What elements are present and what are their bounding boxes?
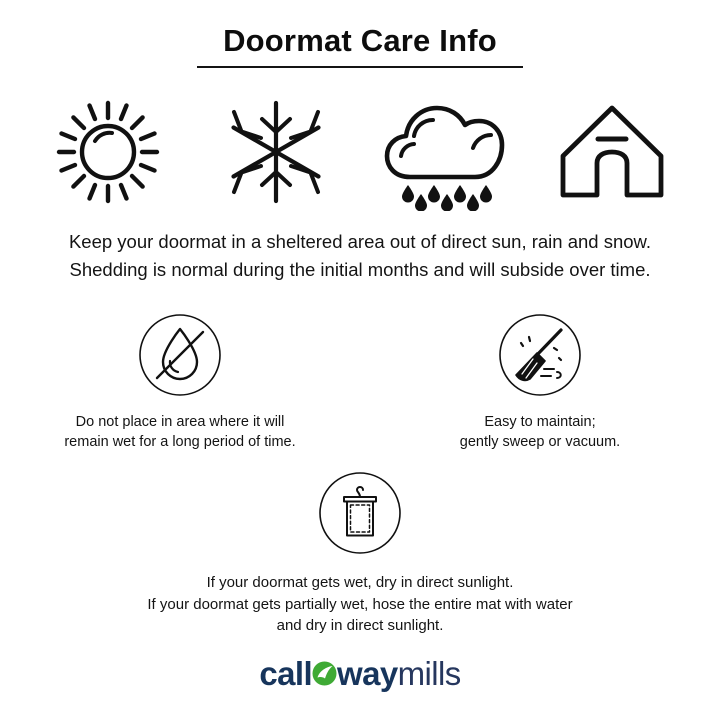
green-leaf-o-icon bbox=[312, 658, 337, 683]
care-tip-no-water: Do not place in area where it will remai… bbox=[0, 312, 360, 452]
drying-tip-line-1: If your doormat gets wet, dry in direct … bbox=[147, 572, 572, 594]
care-tips-row: Do not place in area where it will remai… bbox=[0, 312, 720, 452]
care-tip-no-water-caption: Do not place in area where it will remai… bbox=[64, 412, 295, 452]
main-copy-line-2: Shedding is normal during the initial mo… bbox=[0, 256, 720, 284]
page-title: Doormat Care Info bbox=[0, 22, 720, 60]
brand-logo-mills: mills bbox=[398, 657, 461, 691]
care-tip-no-water-line-2: remain wet for a long period of time. bbox=[64, 432, 295, 452]
drying-tip-line-2: If your doormat gets partially wet, hose… bbox=[147, 594, 572, 616]
care-tip-sweep: Easy to maintain; gently sweep or vacuum… bbox=[360, 312, 720, 452]
house-icon bbox=[547, 92, 677, 212]
brand-logo-calloway-a: call bbox=[259, 657, 312, 691]
snowflake-icon bbox=[211, 92, 341, 212]
care-tip-sweep-caption: Easy to maintain; gently sweep or vacuum… bbox=[460, 412, 620, 452]
broom-sweep-icon bbox=[497, 312, 583, 398]
care-tip-sweep-line-2: gently sweep or vacuum. bbox=[460, 432, 620, 452]
main-copy: Keep your doormat in a sheltered area ou… bbox=[0, 228, 720, 284]
care-tip-sweep-line-1: Easy to maintain; bbox=[460, 412, 620, 432]
main-copy-line-1: Keep your doormat in a sheltered area ou… bbox=[0, 228, 720, 256]
weather-icon-row bbox=[0, 92, 720, 212]
brand-logo-wordmark: call way mills bbox=[259, 657, 460, 691]
sun-icon bbox=[43, 92, 173, 212]
care-tip-no-water-line-1: Do not place in area where it will bbox=[64, 412, 295, 432]
care-info-card: Doormat Care Info bbox=[0, 0, 720, 720]
title-block: Doormat Care Info bbox=[0, 22, 720, 68]
title-underline-rule bbox=[197, 66, 523, 68]
hang-to-dry-icon bbox=[317, 470, 403, 556]
rain-cloud-icon bbox=[379, 92, 509, 212]
drying-tip: If your doormat gets wet, dry in direct … bbox=[0, 470, 720, 637]
brand-logo-calloway-b: way bbox=[337, 657, 398, 691]
brand-logo: call way mills bbox=[0, 657, 720, 691]
drying-tip-line-3: and dry in direct sunlight. bbox=[147, 615, 572, 637]
no-water-icon bbox=[137, 312, 223, 398]
drying-tip-caption: If your doormat gets wet, dry in direct … bbox=[147, 572, 572, 637]
